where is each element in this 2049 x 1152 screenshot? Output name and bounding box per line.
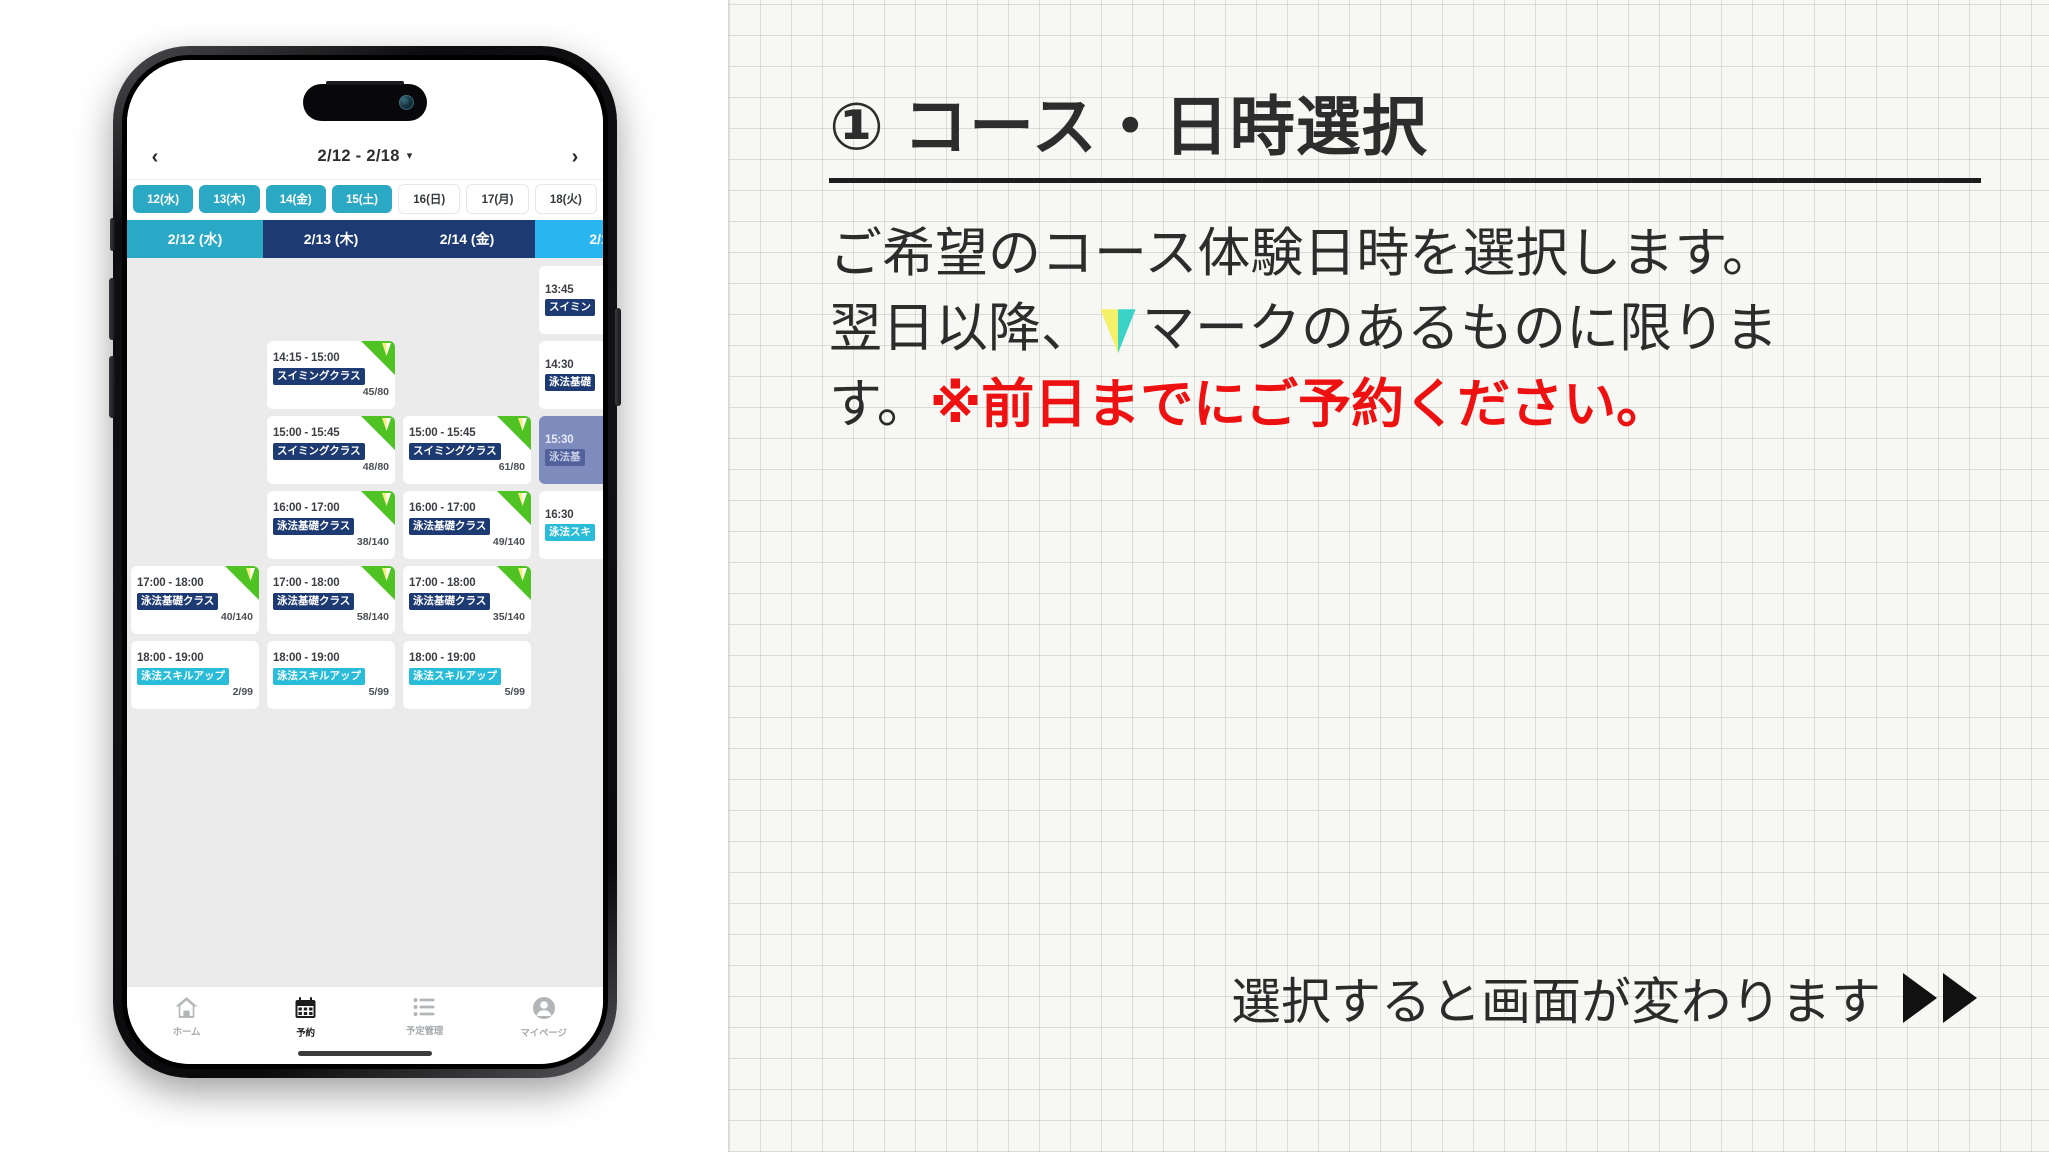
capacity-count: 35/140 — [409, 612, 525, 623]
class-time: 15:00 - 15:45 — [273, 427, 389, 440]
tab-home[interactable]: ホーム — [127, 996, 246, 1038]
body-line-2: 翌日以降、マークのあるものに限りま — [829, 291, 1977, 366]
day-column-header-label: 2/13 (木) — [304, 229, 358, 249]
empty-slot — [131, 416, 259, 484]
class-name-tag: スイミングクラス — [273, 368, 365, 385]
tab-mypage-label: マイページ — [520, 1025, 566, 1039]
capacity-count: 5/99 — [409, 687, 525, 698]
day-column-header-label: 2/14 (金) — [440, 229, 494, 249]
slot: 15:00 - 15:45スイミングクラス61/80 — [403, 416, 531, 484]
calendar-icon — [293, 996, 318, 1020]
day-chip-label: 12(水) — [147, 191, 179, 207]
volume-down-button[interactable] — [109, 356, 115, 418]
prev-week-icon[interactable]: ‹ — [143, 147, 167, 167]
tab-schedule-manage[interactable]: 予定管理 — [365, 996, 484, 1037]
iphone-frame: ‹ 2/12 - 2/18▾ › 12(水)13(木)14(金)15(土)16(… — [113, 46, 617, 1078]
class-time: 13:45 — [545, 284, 603, 297]
slot: 18:00 - 19:00泳法スキルアップ2/99 — [131, 641, 259, 709]
class-card[interactable]: 16:00 - 17:00泳法基礎クラス38/140 — [267, 491, 395, 559]
class-card[interactable]: 14:15 - 15:00スイミングクラス45/80 — [267, 341, 395, 409]
capacity-count: 38/140 — [273, 537, 389, 548]
class-tag-row: スイミングクラス — [273, 368, 389, 385]
panel-title-text: コース・日時選択 — [903, 90, 1428, 165]
class-name-tag: 泳法スキルアップ — [409, 668, 501, 685]
day-column-0: 17:00 - 18:00泳法基礎クラス40/14018:00 - 19:00泳… — [127, 258, 263, 986]
tab-home-label: ホーム — [173, 1024, 201, 1038]
class-tag-row: 泳法基礎 — [545, 374, 603, 391]
class-name-tag: 泳法スキルアップ — [137, 668, 229, 685]
class-tag-row: 泳法スキ — [545, 524, 603, 541]
day-chip-label: 17(月) — [482, 191, 514, 207]
empty-slot — [267, 266, 395, 334]
class-tag-row: 泳法基礎クラス — [409, 593, 525, 610]
capacity-count: 45/80 — [273, 387, 389, 398]
slot: 18:00 - 19:00泳法スキルアップ5/99 — [403, 641, 531, 709]
class-time: 16:00 - 17:00 — [409, 502, 525, 515]
class-time: 16:00 - 17:00 — [273, 502, 389, 515]
tab-schedule-manage-label: 予定管理 — [406, 1023, 443, 1037]
panel-footnote: 選択すると画面が変わります — [1231, 962, 1977, 1034]
empty-slot — [131, 491, 259, 559]
class-tag-row: 泳法基礎クラス — [409, 518, 525, 535]
capacity-count: 61/80 — [409, 462, 525, 473]
chevron-down-icon: ▾ — [407, 149, 413, 162]
day-chip-5[interactable]: 17(月) — [466, 184, 528, 214]
day-column-header-label: 2/12 (水) — [168, 229, 222, 249]
body-line-3-red: ※前日までにご予約ください。 — [930, 374, 1669, 435]
day-column-header-2[interactable]: 2/14 (金) — [399, 220, 535, 258]
body-line-2-before: 翌日以降、 — [829, 298, 1094, 359]
class-card[interactable]: 16:30泳法スキ — [539, 491, 603, 559]
class-card[interactable]: 15:30泳法基FU — [539, 416, 603, 484]
class-tag-row: スイミン — [545, 299, 603, 316]
slot: 17:00 - 18:00泳法基礎クラス35/140 — [403, 566, 531, 634]
body-line-3: す。※前日までにご予約ください。 — [829, 367, 1977, 442]
day-header-band: 2/12 (水)2/13 (木)2/14 (金)2/15 — [127, 220, 603, 258]
slot: 18:00 - 19:00泳法スキルアップ5/99 — [267, 641, 395, 709]
double-right-arrow-icon — [1903, 973, 1977, 1023]
body-line-3-black: す。 — [829, 374, 930, 435]
capacity-count: 49/140 — [409, 537, 525, 548]
class-time: 15:30 — [545, 434, 603, 447]
class-tag-row: 泳法基礎クラス — [137, 593, 253, 610]
week-navigator: ‹ 2/12 - 2/18▾ › — [127, 134, 603, 180]
day-chip-3[interactable]: 15(土) — [332, 185, 392, 213]
power-button[interactable] — [615, 308, 621, 406]
class-name-tag: 泳法スキ — [545, 524, 595, 541]
day-chip-row: 12(水)13(木)14(金)15(土)16(日)17(月)18(火) — [127, 180, 603, 220]
class-name-tag: スイミングクラス — [409, 443, 501, 460]
slot: 14:30泳法基礎 — [539, 341, 603, 409]
home-indicator — [298, 1051, 432, 1056]
empty-slot — [131, 266, 259, 334]
phone-showcase: ‹ 2/12 - 2/18▾ › 12(水)13(木)14(金)15(土)16(… — [0, 0, 728, 1152]
slot: 15:00 - 15:45スイミングクラス48/80 — [267, 416, 395, 484]
class-card[interactable]: 17:00 - 18:00泳法基礎クラス35/140 — [403, 566, 531, 634]
day-chip-label: 16(日) — [413, 191, 445, 207]
slot: 16:00 - 17:00泳法基礎クラス49/140 — [403, 491, 531, 559]
day-chip-1[interactable]: 13(木) — [199, 185, 259, 213]
class-card[interactable]: 18:00 - 19:00泳法スキルアップ5/99 — [403, 641, 531, 709]
day-column-3: 13:45スイミン14:30泳法基礎15:30泳法基FU16:30泳法スキ — [535, 258, 603, 986]
capacity-count: 5/99 — [273, 687, 389, 698]
empty-slot — [539, 641, 603, 709]
class-time: 17:00 - 18:00 — [409, 577, 525, 590]
tab-reservation-label: 予約 — [296, 1025, 315, 1039]
slot: 16:00 - 17:00泳法基礎クラス38/140 — [267, 491, 395, 559]
phone-bezel: ‹ 2/12 - 2/18▾ › 12(水)13(木)14(金)15(土)16(… — [122, 55, 608, 1069]
mute-switch[interactable] — [110, 218, 115, 251]
week-range-text: 2/12 - 2/18 — [317, 147, 399, 165]
class-time: 18:00 - 19:00 — [273, 652, 389, 665]
slot: 14:15 - 15:00スイミングクラス45/80 — [267, 341, 395, 409]
capacity-count: 48/80 — [273, 462, 389, 473]
class-time: 16:30 — [545, 509, 603, 522]
class-name-tag: 泳法基 — [545, 449, 585, 466]
day-chip-4[interactable]: 16(日) — [398, 184, 460, 214]
day-column-header-label: 2/15 — [589, 231, 603, 247]
class-name-tag: 泳法基礎クラス — [137, 593, 218, 610]
class-card[interactable]: 15:00 - 15:45スイミングクラス61/80 — [403, 416, 531, 484]
class-card[interactable]: 18:00 - 19:00泳法スキルアップ5/99 — [267, 641, 395, 709]
class-tag-row: 泳法基礎クラス — [273, 518, 389, 535]
tab-mypage[interactable]: マイページ — [484, 996, 603, 1039]
panel-body: ご希望のコース体験日時を選択します。 翌日以降、マークのあるものに限りま す。※… — [829, 216, 1977, 442]
beginner-mark-icon — [1098, 309, 1138, 353]
class-name-tag: スイミン — [545, 299, 595, 316]
class-card[interactable]: 18:00 - 19:00泳法スキルアップ2/99 — [131, 641, 259, 709]
class-card[interactable]: 13:45スイミン — [539, 266, 603, 334]
empty-slot — [131, 341, 259, 409]
schedule-grid[interactable]: 17:00 - 18:00泳法基礎クラス40/14018:00 - 19:00泳… — [127, 258, 603, 986]
day-chip-6[interactable]: 18(火) — [535, 184, 597, 214]
class-time: 14:15 - 15:00 — [273, 352, 389, 365]
day-chip-label: 15(土) — [346, 191, 378, 207]
capacity-count: 2/99 — [137, 687, 253, 698]
day-column-header-0[interactable]: 2/12 (水) — [127, 220, 263, 258]
class-name-tag: 泳法基礎クラス — [409, 518, 490, 535]
class-time: 17:00 - 18:00 — [273, 577, 389, 590]
day-column-1: 14:15 - 15:00スイミングクラス45/8015:00 - 15:45ス… — [263, 258, 399, 986]
class-card[interactable]: 17:00 - 18:00泳法基礎クラス40/140 — [131, 566, 259, 634]
class-tag-row: 泳法スキルアップ — [137, 668, 253, 685]
class-time: 18:00 - 19:00 — [137, 652, 253, 665]
capacity-count: 40/140 — [137, 612, 253, 623]
week-range-label[interactable]: 2/12 - 2/18▾ — [167, 147, 563, 166]
class-tag-row: 泳法スキルアップ — [409, 668, 525, 685]
capacity-count: 58/140 — [273, 612, 389, 623]
empty-slot — [403, 341, 531, 409]
class-name-tag: 泳法スキルアップ — [273, 668, 365, 685]
explainer-panel: ①コース・日時選択 ご希望のコース体験日時を選択します。 翌日以降、マークのある… — [728, 0, 2049, 1152]
class-tag-row: スイミングクラス — [409, 443, 525, 460]
empty-slot — [403, 266, 531, 334]
class-tag-row: 泳法スキルアップ — [273, 668, 389, 685]
slot: 15:30泳法基FU — [539, 416, 603, 484]
class-tag-row: 泳法基礎クラス — [273, 593, 389, 610]
class-card[interactable]: 14:30泳法基礎 — [539, 341, 603, 409]
class-name-tag: 泳法基礎クラス — [409, 593, 490, 610]
class-name-tag: 泳法基礎クラス — [273, 593, 354, 610]
next-week-icon[interactable]: › — [563, 147, 587, 167]
day-chip-2[interactable]: 14(金) — [266, 185, 326, 213]
body-line-2-after: マークのあるものに限りま — [1142, 298, 1778, 359]
class-card[interactable]: 17:00 - 18:00泳法基礎クラス58/140 — [267, 566, 395, 634]
class-name-tag: 泳法基礎 — [545, 374, 595, 391]
list-icon — [412, 996, 437, 1018]
footnote-text: 選択すると画面が変わります — [1231, 962, 1881, 1034]
home-icon — [174, 996, 199, 1019]
step-number: ① — [829, 90, 885, 165]
day-chip-label: 14(金) — [280, 191, 312, 207]
dynamic-island — [303, 84, 427, 121]
person-icon — [532, 996, 556, 1020]
empty-slot — [539, 566, 603, 634]
day-chip-label: 13(木) — [213, 191, 245, 207]
day-chip-label: 18(火) — [550, 191, 582, 207]
body-line-1: ご希望のコース体験日時を選択します。 — [829, 216, 1977, 291]
class-name-tag: スイミングクラス — [273, 443, 365, 460]
slot: 16:30泳法スキ — [539, 491, 603, 559]
earpiece-speaker — [326, 81, 404, 85]
class-name-tag: 泳法基礎クラス — [273, 518, 354, 535]
slot: 17:00 - 18:00泳法基礎クラス58/140 — [267, 566, 395, 634]
phone-screen: ‹ 2/12 - 2/18▾ › 12(水)13(木)14(金)15(土)16(… — [127, 60, 603, 1064]
class-time: 17:00 - 18:00 — [137, 577, 253, 590]
class-tag-row: スイミングクラス — [273, 443, 389, 460]
title-divider — [829, 178, 1981, 183]
class-tag-row: 泳法基 — [545, 449, 603, 466]
slide-root: ‹ 2/12 - 2/18▾ › 12(水)13(木)14(金)15(土)16(… — [0, 0, 2049, 1152]
panel-title: ①コース・日時選択 — [829, 74, 1977, 168]
class-card[interactable]: 16:00 - 17:00泳法基礎クラス49/140 — [403, 491, 531, 559]
front-camera-icon — [399, 95, 414, 110]
slot: 17:00 - 18:00泳法基礎クラス40/140 — [131, 566, 259, 634]
tab-reservation[interactable]: 予約 — [246, 996, 365, 1039]
class-time: 14:30 — [545, 359, 603, 372]
day-column-2: 15:00 - 15:45スイミングクラス61/8016:00 - 17:00泳… — [399, 258, 535, 986]
day-column-header-1[interactable]: 2/13 (木) — [263, 220, 399, 258]
volume-up-button[interactable] — [109, 278, 115, 340]
class-time: 15:00 - 15:45 — [409, 427, 525, 440]
class-time: 18:00 - 19:00 — [409, 652, 525, 665]
slot: 13:45スイミン — [539, 266, 603, 334]
class-card[interactable]: 15:00 - 15:45スイミングクラス48/80 — [267, 416, 395, 484]
day-chip-0[interactable]: 12(水) — [133, 185, 193, 213]
day-column-header-3[interactable]: 2/15 — [535, 220, 603, 258]
